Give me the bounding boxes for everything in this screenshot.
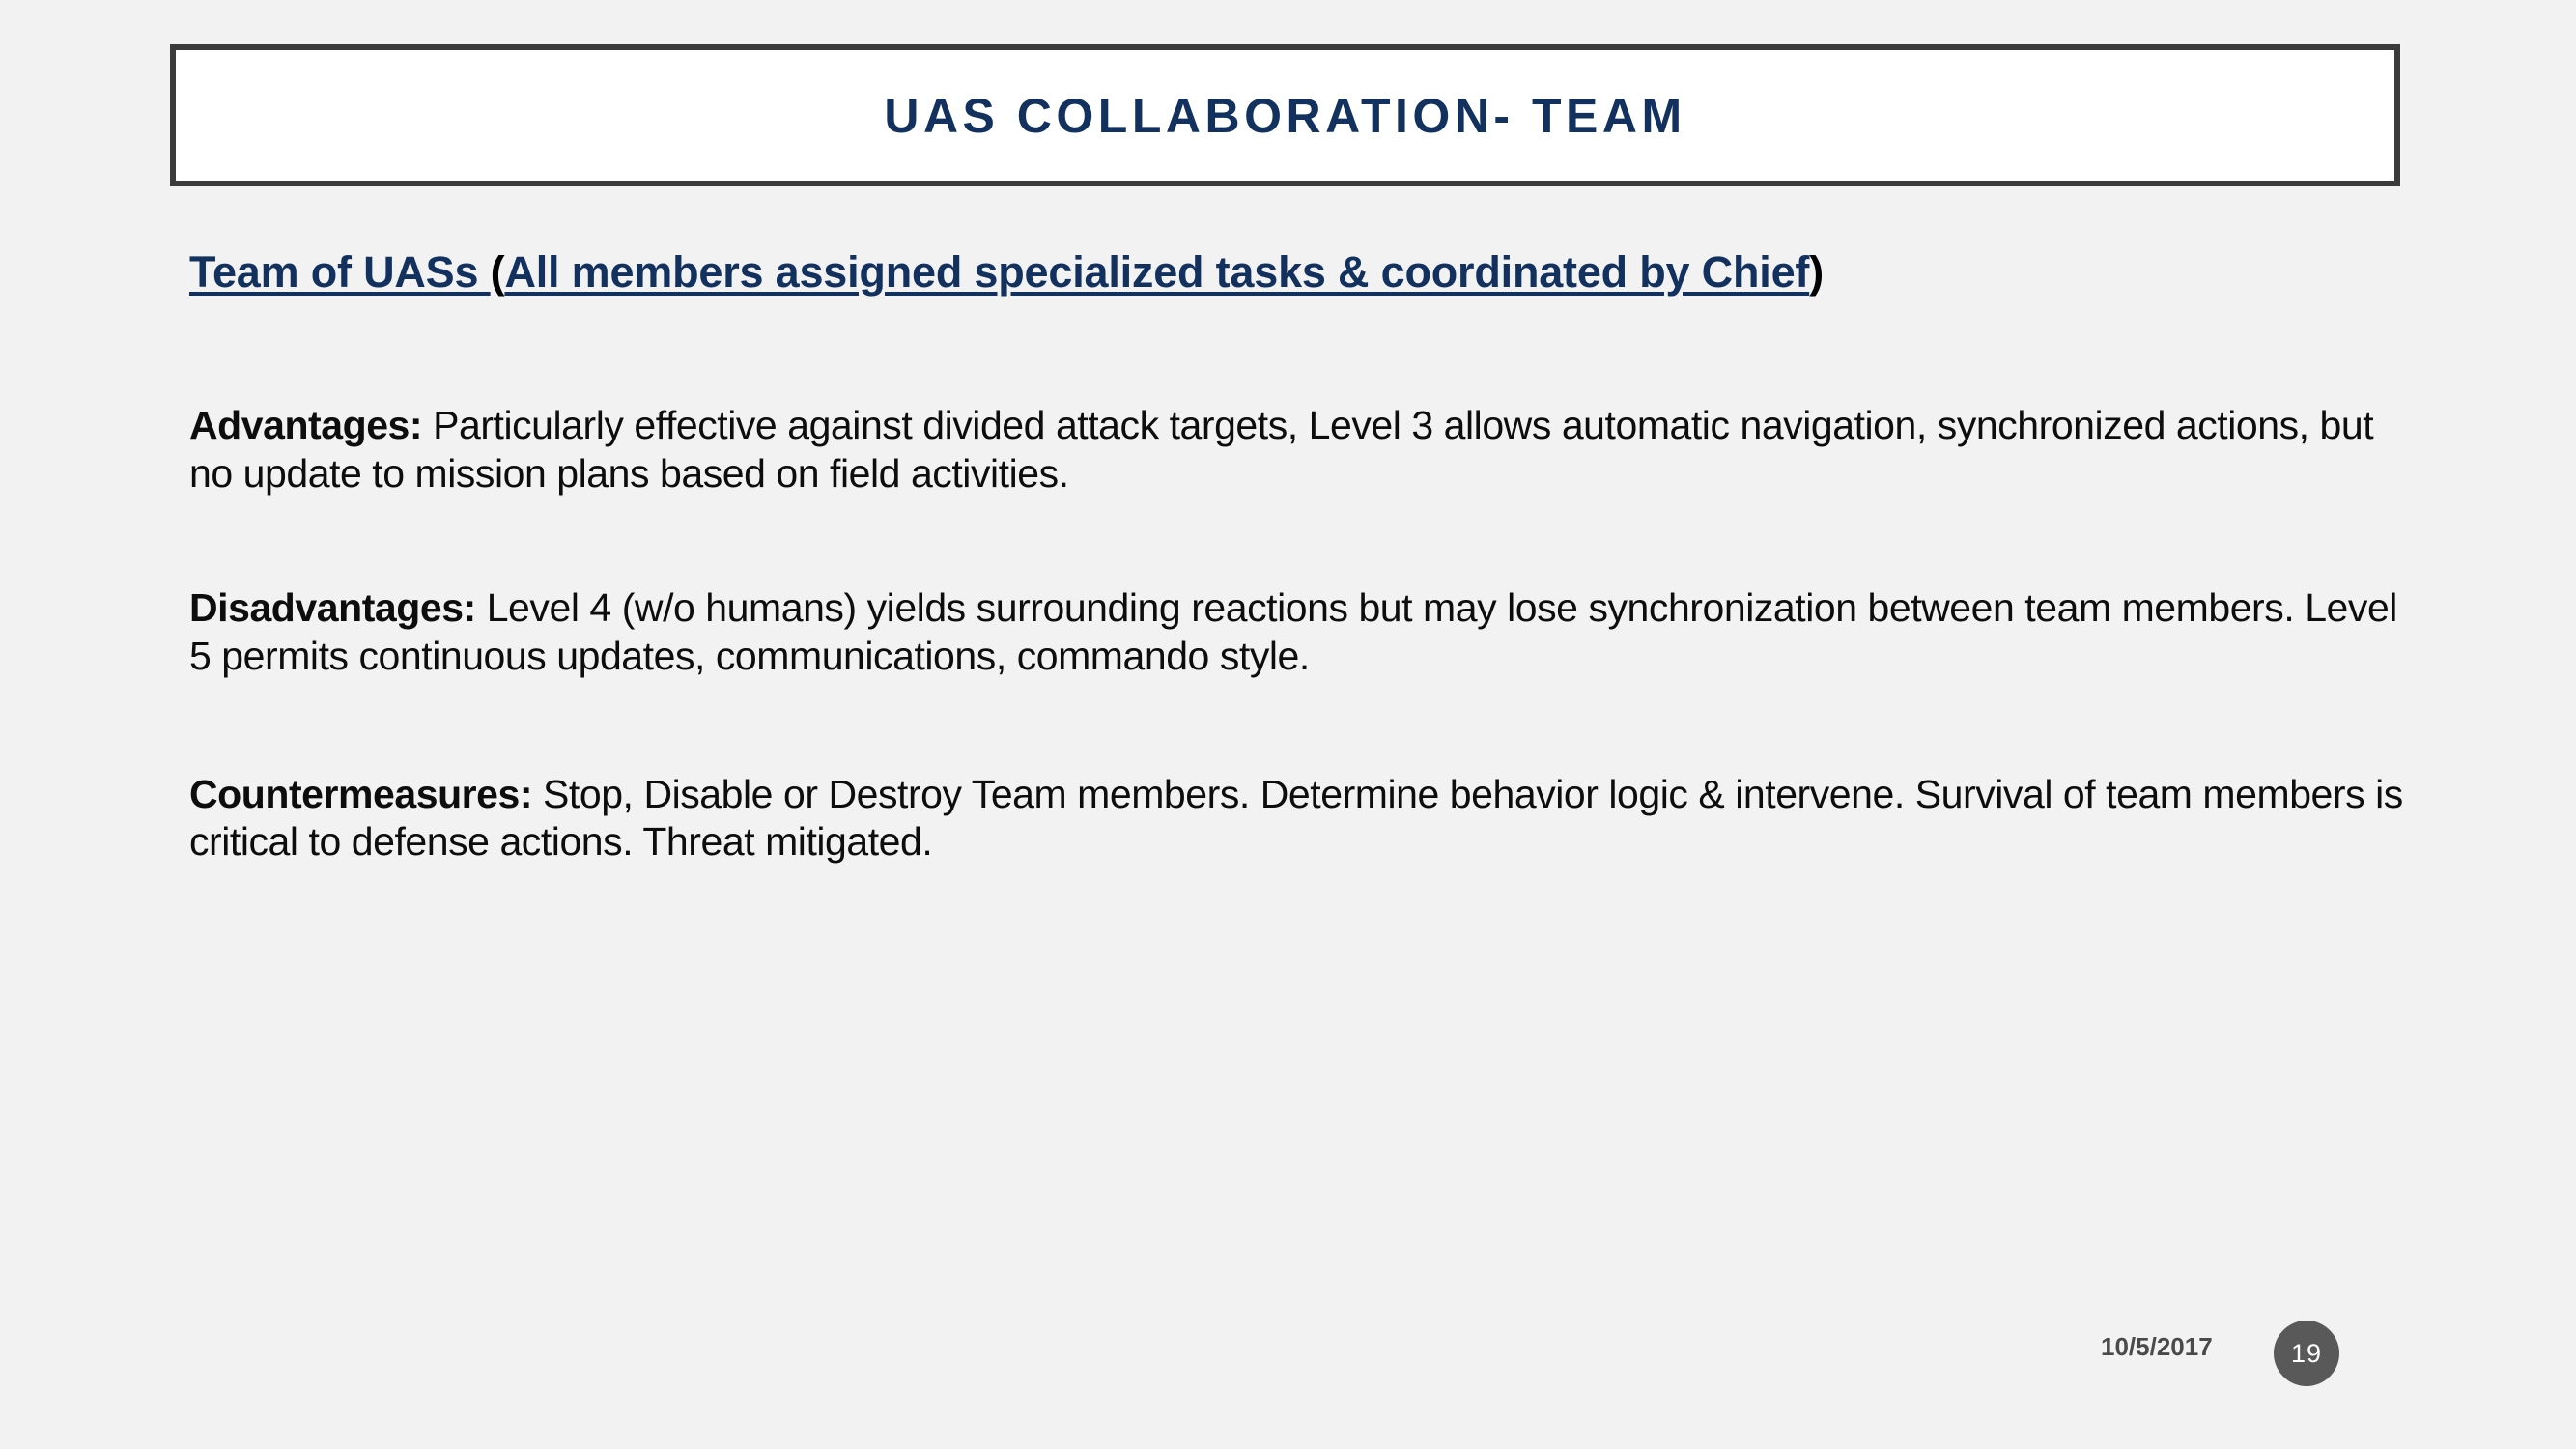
spacer-after-disadvantages <box>189 681 2430 771</box>
countermeasures-label: Countermeasures: <box>189 772 532 816</box>
slide-canvas: UAS COLLABORATION- TEAM Team of UASs (Al… <box>0 0 2576 1449</box>
advantages-text: Particularly effective against divided a… <box>189 403 2373 496</box>
subtitle-heading: Team of UASs (All members assigned speci… <box>189 246 2382 298</box>
advantages-paragraph: Advantages: Particularly effective again… <box>189 402 2420 497</box>
page-title: UAS COLLABORATION- TEAM <box>884 92 1685 140</box>
subtitle-segment-secondary: All members assigned specialized tasks &… <box>504 247 1809 297</box>
slide-number-badge: 19 <box>2274 1321 2339 1386</box>
slide-body: Team of UASs (All members assigned speci… <box>189 246 2430 867</box>
disadvantages-label: Disadvantages: <box>189 585 476 630</box>
disadvantages-text: Level 4 (w/o humans) yields surrounding … <box>189 585 2397 678</box>
spacer-after-advantages <box>189 497 2430 584</box>
countermeasures-paragraph: Countermeasures: Stop, Disable or Destro… <box>189 771 2420 867</box>
subtitle-close-paren: ) <box>1809 247 1824 297</box>
disadvantages-paragraph: Disadvantages: Level 4 (w/o humans) yiel… <box>189 584 2420 680</box>
subtitle-open-paren: ( <box>491 247 505 297</box>
footer-date: 10/5/2017 <box>2101 1332 2213 1362</box>
slide-number-label: 19 <box>2291 1341 2322 1367</box>
subtitle-segment-primary: Team of UASs <box>189 247 491 297</box>
slide-title-box: UAS COLLABORATION- TEAM <box>170 44 2400 186</box>
advantages-label: Advantages: <box>189 403 422 447</box>
spacer-after-subtitle <box>189 298 2430 402</box>
